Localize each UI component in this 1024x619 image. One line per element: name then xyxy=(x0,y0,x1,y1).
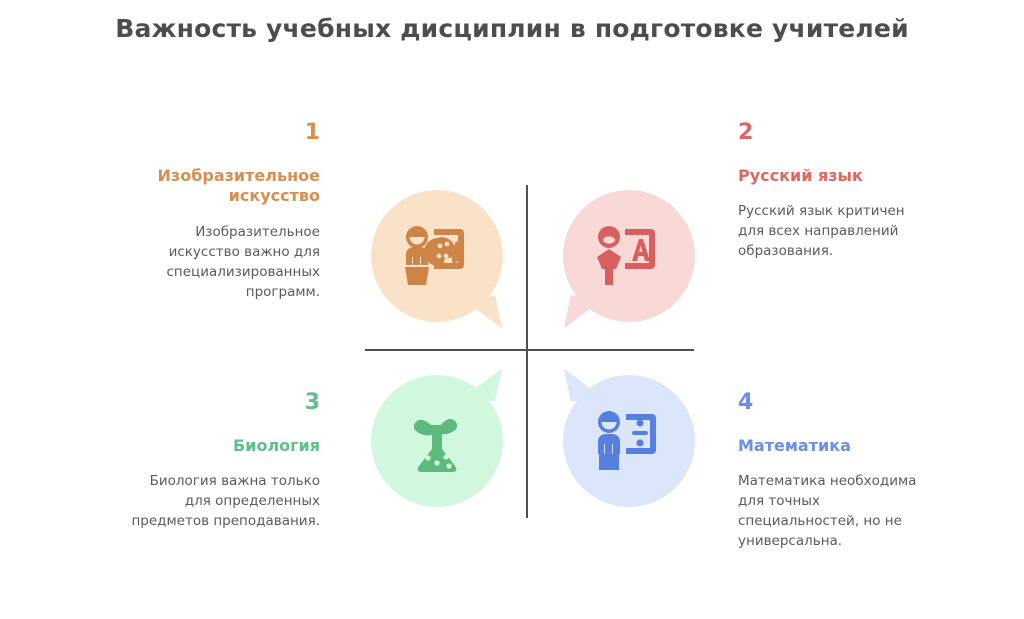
bubble-tail xyxy=(466,362,502,401)
quadrant-description: Биология важна только для определенных п… xyxy=(124,472,320,532)
quadrant-title: Математика xyxy=(738,436,934,456)
icon-bubble-math xyxy=(563,375,695,507)
teacher-letter-board-icon xyxy=(592,225,666,287)
page-title: Важность учебных дисциплин в подготовке … xyxy=(0,14,1024,43)
quadrant-number: 4 xyxy=(738,392,934,414)
quadrant-title: Изобразительное искусство xyxy=(124,166,320,207)
bubble-tail xyxy=(466,295,502,334)
bubble-tail xyxy=(564,362,600,401)
quadrant-art: 1 Изобразительное искусство Изобразитель… xyxy=(124,122,320,303)
quadrant-number: 1 xyxy=(124,122,320,144)
quadrant-number: 3 xyxy=(124,392,320,414)
quadrant-number: 2 xyxy=(738,122,934,144)
bubble-tail xyxy=(564,295,600,334)
quadrant-math: 4 Математика Математика необходима для т… xyxy=(738,392,934,552)
quadrant-russian: 2 Русский язык Русский язык критичен для… xyxy=(738,122,934,262)
teacher-division-board-icon xyxy=(592,410,666,472)
divider-horizontal xyxy=(365,349,694,351)
quadrant-description: Русский язык критичен для всех направлен… xyxy=(738,202,934,262)
flask-sprout-icon xyxy=(406,407,468,475)
quadrant-description: Изобразительное искусство важно для спец… xyxy=(124,223,320,303)
icon-bubble-biology xyxy=(371,375,503,507)
artist-palette-easel-icon xyxy=(400,225,474,287)
icon-bubble-russian xyxy=(563,190,695,322)
quadrant-title: Русский язык xyxy=(738,166,934,186)
quadrant-description: Математика необходима для точных специал… xyxy=(738,472,934,552)
quadrant-biology: 3 Биология Биология важна только для опр… xyxy=(124,392,320,532)
divider-vertical xyxy=(526,185,528,518)
icon-bubble-art xyxy=(371,190,503,322)
quadrant-title: Биология xyxy=(124,436,320,456)
